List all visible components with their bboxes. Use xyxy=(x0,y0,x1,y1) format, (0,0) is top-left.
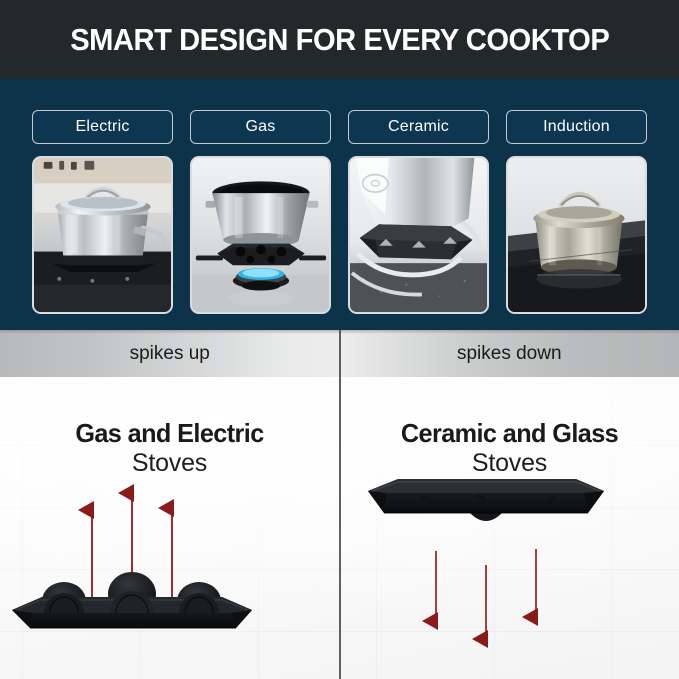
comparison-right-panel: Ceramic and Glass Stoves xyxy=(340,377,679,679)
cooktop-type-section: Electric Gas Ceramic Induction xyxy=(0,79,679,330)
cooktop-pill-label: Gas xyxy=(246,118,276,136)
cooktop-photo-gas xyxy=(190,156,331,314)
orientation-label-right: spikes down xyxy=(340,330,679,377)
cooktop-pill-gas[interactable]: Gas xyxy=(190,110,331,144)
right-illustration xyxy=(340,473,679,679)
cooktop-photo-electric xyxy=(32,156,173,314)
cooktop-pill-label: Ceramic xyxy=(388,118,449,136)
cooktop-pill-ceramic[interactable]: Ceramic xyxy=(348,110,489,144)
cooktop-photo-induction xyxy=(506,156,647,314)
right-title-bold: Ceramic and Glass xyxy=(345,418,674,449)
left-illustration xyxy=(0,473,339,679)
cooktop-pill-electric[interactable]: Electric xyxy=(32,110,173,144)
center-divider xyxy=(339,330,341,679)
cooktop-pill-label: Electric xyxy=(75,118,129,136)
left-title-bold: Gas and Electric xyxy=(5,418,334,449)
comparison-left-panel: Gas and Electric Stoves xyxy=(0,377,339,679)
cooktop-photo-ceramic xyxy=(348,156,489,314)
page-title: SMART DESIGN FOR EVERY COOKTOP xyxy=(70,22,609,58)
cooktop-pill-label: Induction xyxy=(543,118,610,136)
orientation-label-left: spikes up xyxy=(0,330,340,377)
infographic-root: SMART DESIGN FOR EVERY COOKTOP Electric … xyxy=(0,0,679,679)
cooktop-pill-induction[interactable]: Induction xyxy=(506,110,647,144)
cooktop-label-row: Electric Gas Ceramic Induction xyxy=(0,110,679,144)
cooktop-photo-row xyxy=(0,156,679,317)
header-banner: SMART DESIGN FOR EVERY COOKTOP xyxy=(0,0,679,79)
